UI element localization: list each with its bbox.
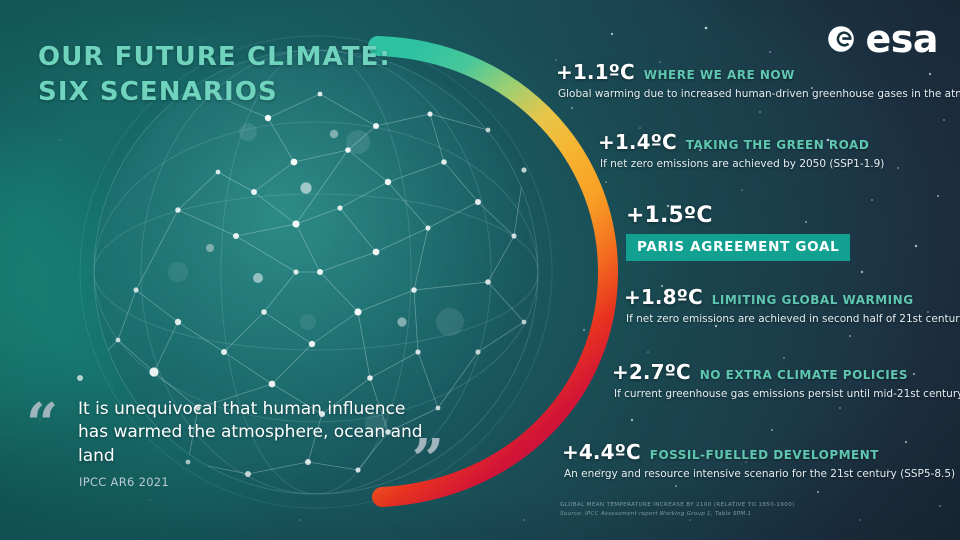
scenario-name: NO EXTRA CLIMATE POLICIES (700, 368, 908, 382)
esa-emblem-icon (824, 22, 858, 56)
scenario-heading: +2.7ºC NO EXTRA CLIMATE POLICIES (612, 360, 960, 384)
ipcc-quote-block: “ It is unequivocal that human influence… (26, 398, 426, 489)
scenario-description: An energy and resource intensive scenari… (564, 468, 955, 480)
scenario-item-6[interactable]: +4.4ºC FOSSIL-FUELLED DEVELOPMENT An ene… (562, 440, 955, 480)
footnote-line-1: GLOBAL MEAN TEMPERATURE INCREASE BY 2100… (560, 502, 795, 508)
scenario-item-1[interactable]: +1.1ºC WHERE WE ARE NOW Global warming d… (556, 60, 960, 100)
scenario-heading: +1.8ºC LIMITING GLOBAL WARMING (624, 285, 960, 309)
scenario-description: If net zero emissions are achieved by 20… (600, 158, 884, 170)
scenario-temperature: +2.7ºC (612, 360, 691, 384)
scenario-temperature: +1.4ºC (598, 130, 677, 154)
footnote-line-2: Source: IPCC Assessment report Working G… (560, 511, 795, 517)
scenario-description: Global warming due to increased human-dr… (558, 88, 960, 100)
scenario-temperature: +4.4ºC (562, 440, 641, 464)
scenario-heading: +1.1ºC WHERE WE ARE NOW (556, 60, 960, 84)
scenario-name: LIMITING GLOBAL WARMING (712, 293, 914, 307)
scenario-description: If net zero emissions are achieved in se… (626, 313, 960, 325)
quote-open-mark: “ (26, 396, 58, 452)
scenario-temperature: +1.5ºC (626, 203, 850, 228)
esa-logo[interactable]: esa (824, 20, 938, 58)
quote-source: IPCC AR6 2021 (79, 475, 426, 489)
scenario-item-5[interactable]: +2.7ºC NO EXTRA CLIMATE POLICIES If curr… (612, 360, 960, 400)
scenario-description: If current greenhouse gas emissions pers… (614, 388, 960, 400)
quote-line-2: has warmed the atmosphere, ocean and lan… (78, 421, 426, 468)
title-line-2: SIX SCENARIOS (38, 75, 391, 110)
scenario-heading: +4.4ºC FOSSIL-FUELLED DEVELOPMENT (562, 440, 955, 464)
quote-text: It is unequivocal that human influence h… (78, 398, 426, 468)
quote-line-1: It is unequivocal that human influence (78, 398, 426, 421)
scenario-temperature: +1.8ºC (624, 285, 703, 309)
scenario-item-2[interactable]: +1.4ºC TAKING THE GREEN ROAD If net zero… (598, 130, 884, 170)
scenario-name: WHERE WE ARE NOW (644, 68, 795, 82)
scenario-name: FOSSIL-FUELLED DEVELOPMENT (650, 448, 879, 462)
scenario-temperature: +1.1ºC (556, 60, 635, 84)
page-title: OUR FUTURE CLIMATE: SIX SCENARIOS (38, 40, 391, 109)
paris-agreement-badge: PARIS AGREEMENT GOAL (626, 234, 850, 261)
quote-close-mark: ” (412, 432, 444, 488)
title-line-1: OUR FUTURE CLIMATE: (38, 40, 391, 75)
footnote-block: GLOBAL MEAN TEMPERATURE INCREASE BY 2100… (560, 502, 795, 517)
infographic-canvas: OUR FUTURE CLIMATE: SIX SCENARIOS esa +1… (0, 0, 960, 540)
scenario-heading: +1.4ºC TAKING THE GREEN ROAD (598, 130, 884, 154)
scenario-name: TAKING THE GREEN ROAD (686, 138, 870, 152)
esa-wordmark: esa (865, 20, 938, 58)
scenario-item-3-paris[interactable]: +1.5ºC PARIS AGREEMENT GOAL (626, 203, 850, 261)
scenario-item-4[interactable]: +1.8ºC LIMITING GLOBAL WARMING If net ze… (624, 285, 960, 325)
